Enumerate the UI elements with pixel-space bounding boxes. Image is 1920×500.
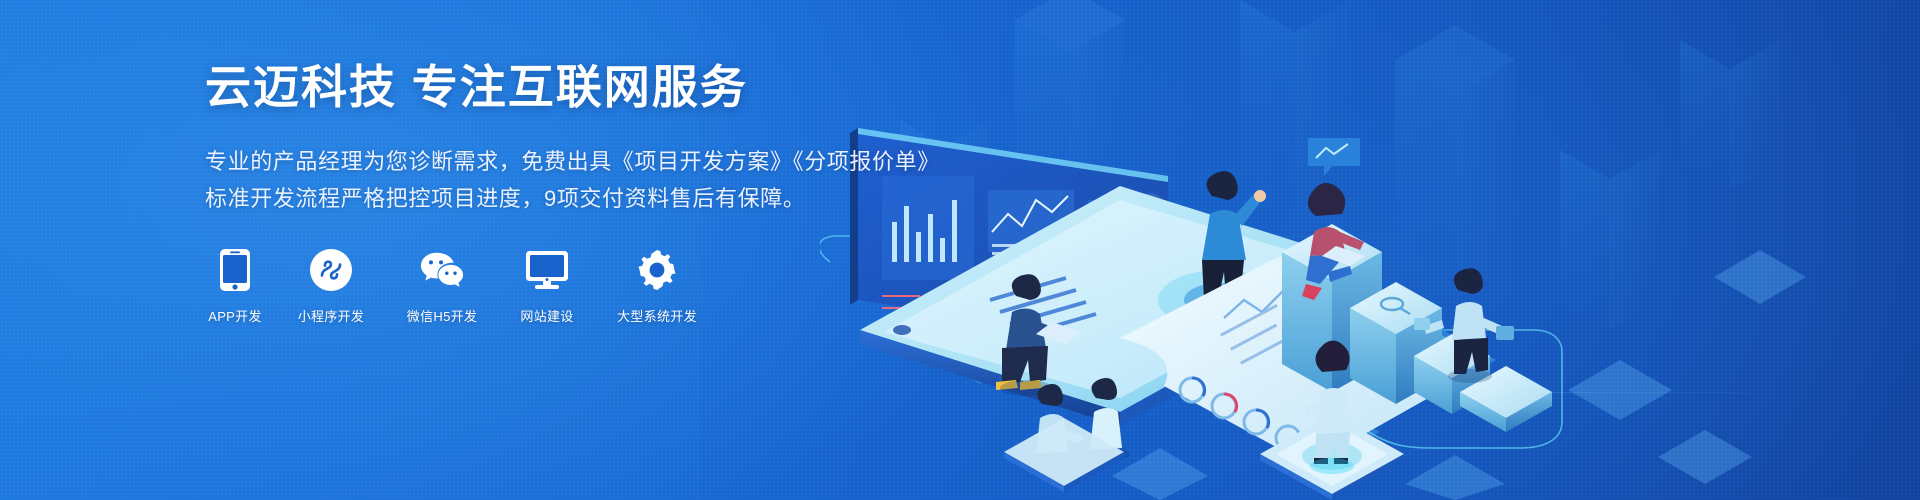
mini-program-icon: [308, 247, 354, 293]
hero-content: 云迈科技 专注互联网服务 专业的产品经理为您诊断需求，免费出具《项目开发方案》《…: [205, 62, 925, 325]
smartphone-icon: [212, 247, 258, 293]
page-title: 云迈科技 专注互联网服务: [205, 62, 925, 114]
service-label: 网站建设: [520, 306, 573, 325]
hero-banner: 云迈科技 专注互联网服务 专业的产品经理为您诊断需求，免费出具《项目开发方案》《…: [0, 0, 1920, 500]
service-list: APP开发 小程序开发: [205, 247, 925, 325]
service-item-mini-program[interactable]: 小程序开发: [289, 247, 373, 325]
service-label: 小程序开发: [298, 306, 365, 325]
service-item-wechat-h5[interactable]: 微信H5开发: [397, 247, 487, 325]
hero-subtitle: 专业的产品经理为您诊断需求，免费出具《项目开发方案》《分项报价单》 标准开发流程…: [205, 143, 925, 217]
service-item-website[interactable]: 网站建设: [511, 247, 583, 325]
wechat-icon: [419, 247, 465, 293]
service-item-app[interactable]: APP开发: [205, 247, 265, 325]
service-item-large-system[interactable]: 大型系统开发: [607, 247, 707, 325]
gear-icon: [634, 247, 680, 293]
service-label: APP开发: [208, 306, 262, 325]
subtitle-line-2: 标准开发流程严格把控项目进度，9项交付资料售后有保障。: [205, 180, 925, 217]
service-label: 大型系统开发: [617, 306, 697, 325]
monitor-icon: [524, 247, 570, 293]
subtitle-line-1: 专业的产品经理为您诊断需求，免费出具《项目开发方案》《分项报价单》: [205, 143, 925, 180]
service-label: 微信H5开发: [407, 306, 477, 325]
isometric-tech-illustration: [820, 0, 1920, 500]
